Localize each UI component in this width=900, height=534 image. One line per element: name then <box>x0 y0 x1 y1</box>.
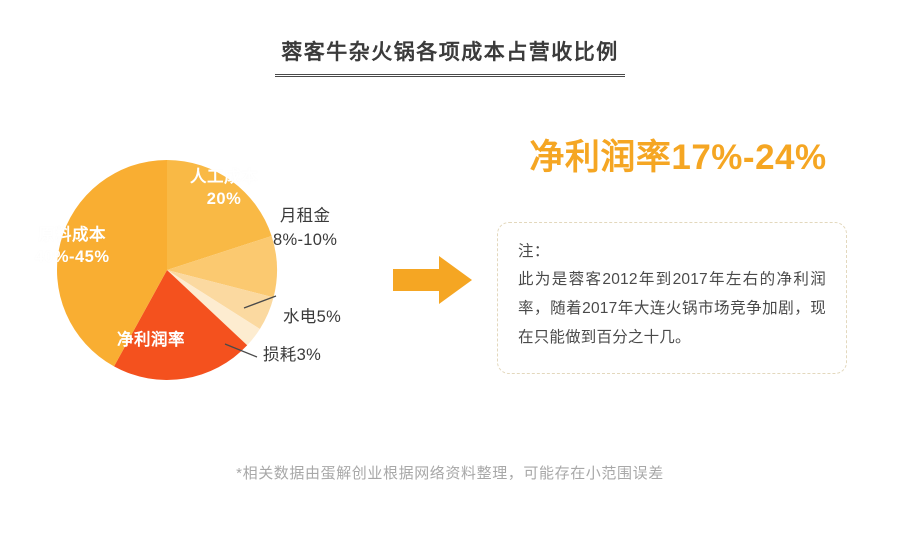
slice-label-labor-name: 人工成本 <box>168 166 280 188</box>
slice-label-rent-name: 月租金 <box>273 204 337 228</box>
profit-headline: 净利润率17%-24% <box>468 134 888 182</box>
note-text: 此为是蓉客2012年到2017年左右的净利润率，随着2017年大连火锅市场竞争加… <box>518 265 826 352</box>
slice-label-profit: 净利润率 <box>96 329 206 351</box>
slice-label-material: 原料成本 40%-45% <box>12 224 132 268</box>
slice-label-labor: 人工成本 20% <box>168 166 280 210</box>
note-label: 注： <box>518 239 826 265</box>
title-block: 蓉客牛杂火锅各项成本占营收比例 <box>0 38 900 77</box>
footnote: *相关数据由蛋解创业根据网络资料整理，可能存在小范围误差 <box>0 462 900 483</box>
note-box: 注： 此为是蓉客2012年到2017年左右的净利润率，随着2017年大连火锅市场… <box>497 222 847 374</box>
slice-label-rent: 月租金 8%-10% <box>273 204 337 252</box>
slice-label-material-value: 40%-45% <box>12 246 132 268</box>
right-panel: 净利润率17%-24% <box>468 134 888 182</box>
slice-label-profit-name: 净利润率 <box>96 329 206 351</box>
arrow-right-icon <box>393 253 473 307</box>
slice-label-rent-value: 8%-10% <box>273 228 337 252</box>
page-title: 蓉客牛杂火锅各项成本占营收比例 <box>275 38 625 77</box>
slice-label-labor-value: 20% <box>168 188 280 210</box>
slice-label-utility: 水电5% <box>283 305 341 329</box>
slice-label-loss: 损耗3% <box>263 343 321 367</box>
slice-label-material-name: 原料成本 <box>12 224 132 246</box>
